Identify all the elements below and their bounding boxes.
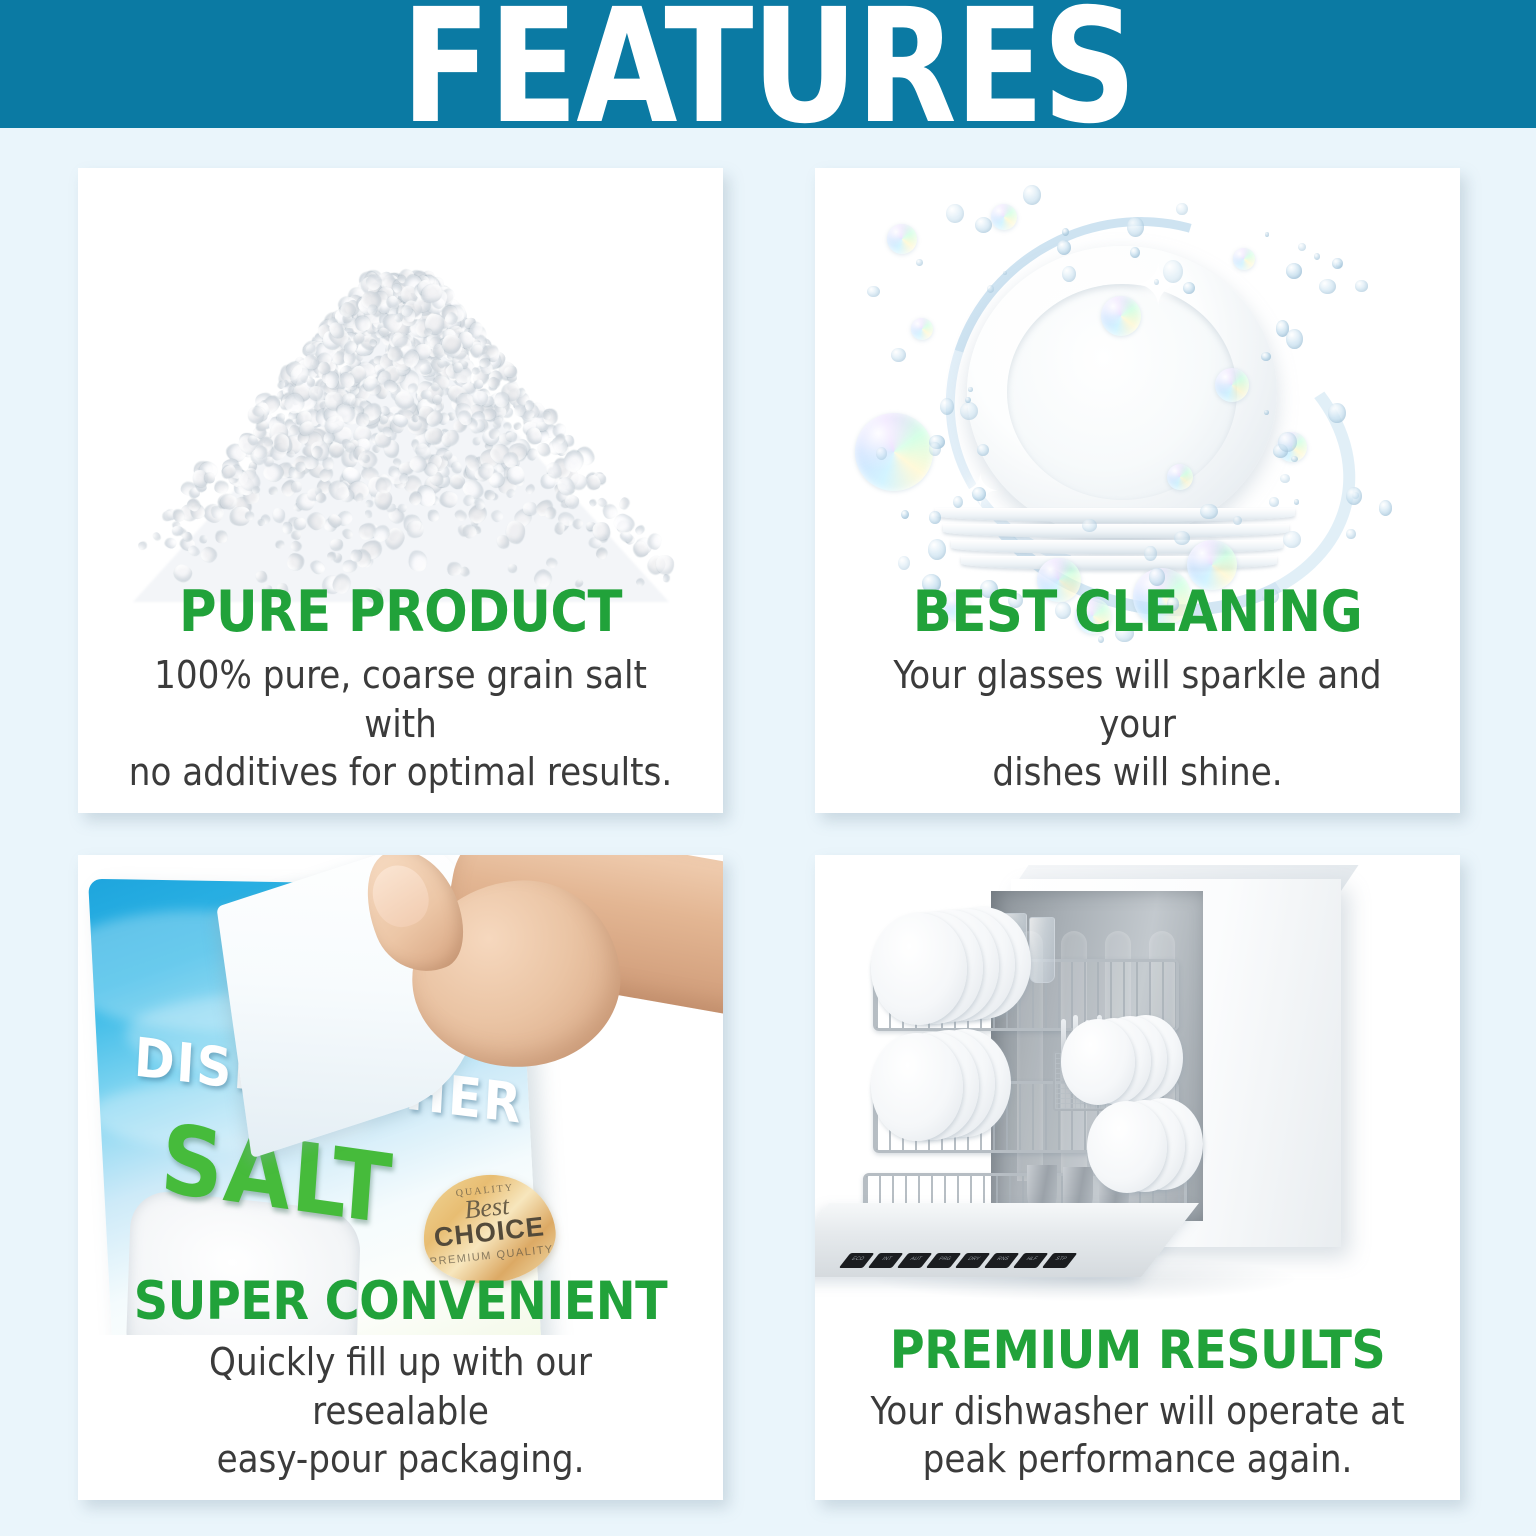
water-droplet [1265,232,1269,236]
water-droplet [946,204,964,224]
water-droplet [1176,203,1187,215]
card-title: PREMIUM RESULTS [815,1323,1460,1379]
water-droplet [1023,185,1041,204]
water-droplet [891,348,906,362]
water-droplet [916,259,923,266]
soap-bubble [911,318,933,340]
water-droplet [1130,247,1140,258]
water-droplet [1233,516,1242,526]
dishwasher-control-button-label: STP [1047,1256,1076,1262]
hand-holding-salt-pouch-image: DISHWASHER SALT QUALITY Best CHOICE PREM… [78,855,723,1335]
soap-bubble [1233,248,1255,270]
water-droplet [929,442,941,456]
dish-plate [1061,1019,1135,1105]
salt-grain [365,499,373,507]
water-droplet [1294,499,1300,504]
water-droplet [1328,403,1345,423]
card-description: Your dishwasher will operate at peak per… [858,1387,1418,1484]
water-droplet [1183,282,1195,295]
header-banner: FEATURES [0,0,1536,128]
card-title: BEST CLEANING [815,583,1460,643]
water-droplet [1314,253,1321,260]
dish-plate [871,1033,963,1141]
water-droplet [1286,263,1303,279]
water-droplet [867,286,880,297]
card-text-block: SUPER CONVENIENT Quickly fill up with ou… [78,1274,723,1484]
card-text-block: PREMIUM RESULTS Your dishwasher will ope… [815,1323,1460,1484]
water-droplet [1286,329,1303,350]
feature-card-super-convenient[interactable]: DISHWASHER SALT QUALITY Best CHOICE PREM… [78,855,723,1500]
salt-grain [494,416,503,425]
card-description-line-2: peak performance again. [858,1435,1418,1484]
soap-bubble [1101,296,1141,336]
water-droplet [1144,546,1156,561]
water-droplet [1346,529,1355,540]
card-text-block: BEST CLEANING Your glasses will sparkle … [815,583,1460,797]
salt-grain [276,413,285,421]
salt-grain [544,507,554,520]
dishwasher-control-button-label: RNS [989,1256,1018,1262]
card-description: 100% pure, coarse grain salt with no add… [121,651,681,797]
water-droplet [972,487,986,501]
water-droplet [1200,504,1217,519]
open-dishwasher-image: ECOINTAUTPRGDRYRNSHLFSTP [815,855,1460,1335]
page-title: FEATURES [61,0,1474,128]
infographic-page: FEATURES PURE PRODUCT 100% pure, coarse … [0,0,1536,1536]
soap-bubble [887,224,917,254]
card-description-line-1: Your dishwasher will operate at [858,1387,1418,1436]
dish-plate [871,913,967,1025]
water-droplet [940,398,954,415]
card-description-line-2: dishes will shine. [858,748,1418,797]
card-text-block: PURE PRODUCT 100% pure, coarse grain sal… [78,583,723,797]
feature-card-pure-product[interactable]: PURE PRODUCT 100% pure, coarse grain sal… [78,168,723,813]
salt-grain [554,522,565,535]
card-title: PURE PRODUCT [78,583,723,643]
salt-grain [439,491,457,508]
features-grid: PURE PRODUCT 100% pure, coarse grain sal… [78,168,1460,1500]
thumbnail [364,857,437,935]
dishwasher-control-button-label: DRY [960,1256,989,1262]
card-description: Quickly fill up with our resealable easy… [121,1338,681,1484]
dish-plate [1087,1101,1167,1193]
soap-bubble [855,413,933,491]
water-droplet [1355,280,1368,292]
salt-grain [245,511,254,520]
hand-illustration [316,855,723,1167]
water-droplet [1283,531,1300,548]
water-droplet [1127,217,1143,236]
water-droplet [1261,352,1271,361]
dishwasher-control-button-label: ECO [844,1256,873,1262]
card-description-line-2: easy-pour packaging. [121,1435,681,1484]
salt-grain [376,478,392,493]
card-description-line-1: Your glasses will sparkle and your [858,651,1418,748]
water-droplet [975,217,992,233]
water-droplet [929,511,941,524]
water-droplet [987,285,994,292]
soap-bubble [1167,464,1193,490]
salt-grain [214,481,229,494]
salt-grain [398,504,407,513]
water-droplet [1319,279,1336,294]
dishwasher-control-button-label: HLF [1018,1256,1047,1262]
dishwasher-control-button-label: PRG [931,1256,960,1262]
dishwasher-control-button[interactable]: STP [1042,1253,1078,1268]
water-droplet [1298,243,1306,251]
drinking-glass [1029,917,1055,983]
salt-grain [663,574,670,583]
soap-bubble [991,204,1017,230]
water-droplet [1082,519,1097,532]
salt-grain [308,385,323,400]
water-droplet [901,510,909,520]
water-droplet [968,387,973,391]
salt-grain [507,563,517,571]
feature-card-best-cleaning[interactable]: ✦ ✦ BEST CLEANING Your glasses will spar… [815,168,1460,813]
card-description: Your glasses will sparkle and your dishe… [858,651,1418,797]
card-title: SUPER CONVENIENT [78,1274,723,1330]
water-droplet [898,556,910,570]
plate-stack-layer-2 [943,524,1289,538]
water-droplet [928,539,946,560]
dishwasher-control-button-label: INT [873,1256,902,1262]
water-droplet [1269,497,1278,506]
water-droplet [953,496,963,508]
salt-pile-image [78,168,723,648]
water-droplet [1291,456,1298,462]
water-droplet [1154,279,1159,285]
clean-dishes-splash-image: ✦ ✦ [815,168,1460,648]
card-description-line-1: 100% pure, coarse grain salt with [121,651,681,748]
feature-card-premium-results[interactable]: ECOINTAUTPRGDRYRNSHLFSTP PREMIUM RESULTS… [815,855,1460,1500]
card-description-line-1: Quickly fill up with our resealable [121,1338,681,1435]
salt-grain [274,434,289,453]
dishwasher-control-panel[interactable]: ECOINTAUTPRGDRYRNSHLFSTP [833,1245,1096,1275]
water-droplet [1346,487,1363,506]
water-droplet [1332,258,1343,269]
salt-grain [388,466,399,477]
water-droplet [876,447,887,460]
water-droplet [1379,500,1392,515]
soap-bubble [1215,368,1249,402]
card-description-line-2: no additives for optimal results. [121,748,681,797]
dishwasher-control-button-label: AUT [902,1256,931,1262]
